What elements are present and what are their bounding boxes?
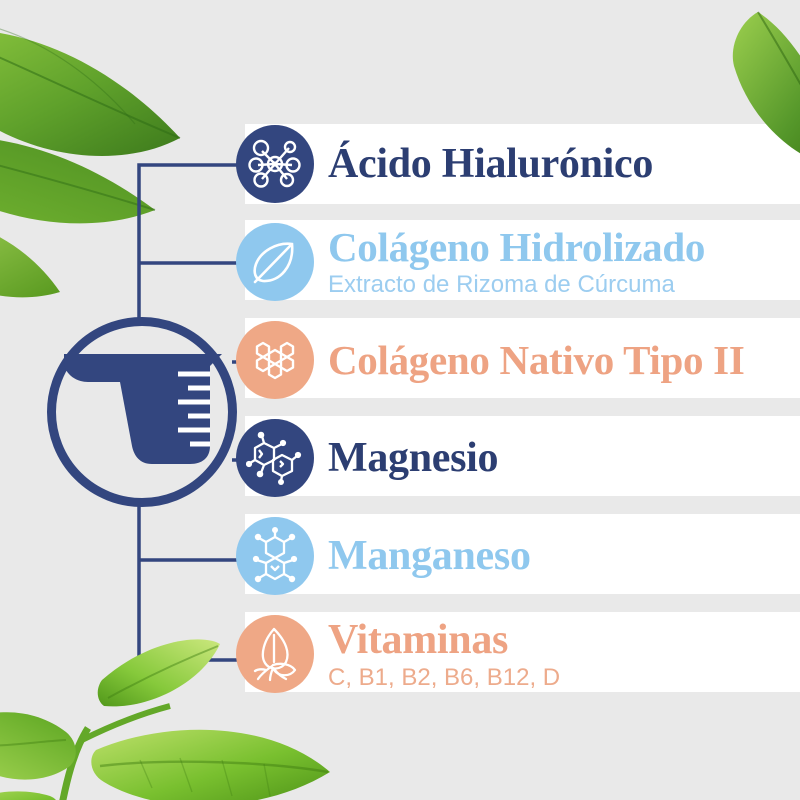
molecule-rings-icon	[236, 419, 314, 497]
ingredient-row-magnesio[interactable]: Magnesio	[236, 416, 498, 500]
ingredient-text: Magnesio	[328, 437, 498, 479]
ingredient-row-manganeso[interactable]: Manganeso	[236, 514, 531, 598]
ingredient-text: Ácido Hialurónico	[328, 143, 653, 185]
ingredient-title: Manganeso	[328, 535, 531, 577]
measuring-scoop-icon	[60, 336, 226, 486]
honeycomb-icon	[236, 321, 314, 399]
ingredient-title: Colágeno Hidrolizado	[328, 227, 705, 268]
infographic-canvas: Ácido Hialurónico Colágeno Hidrolizado E…	[0, 0, 800, 800]
ingredient-text: Colágeno Hidrolizado Extracto de Rizoma …	[328, 227, 705, 297]
leaf-bottom-left-icon	[0, 600, 370, 800]
ingredient-text: Colágeno Nativo Tipo II	[328, 340, 744, 381]
ingredient-subtitle: Extracto de Rizoma de Cúrcuma	[328, 273, 705, 297]
ingredient-row-acido-hialuronico[interactable]: Ácido Hialurónico	[236, 122, 653, 206]
leaf-icon	[236, 223, 314, 301]
molecule-network-icon	[236, 125, 314, 203]
ingredient-title: Colágeno Nativo Tipo II	[328, 340, 744, 381]
ingredient-text: Manganeso	[328, 535, 531, 577]
leaf-top-right-icon	[700, 0, 800, 190]
ingredient-row-colageno-nativo[interactable]: Colágeno Nativo Tipo II	[236, 318, 744, 402]
ingredient-title: Magnesio	[328, 437, 498, 479]
molecule-rings-icon	[236, 517, 314, 595]
ingredient-title: Ácido Hialurónico	[328, 143, 653, 185]
ingredient-row-colageno-hidrolizado[interactable]: Colágeno Hidrolizado Extracto de Rizoma …	[236, 220, 705, 304]
